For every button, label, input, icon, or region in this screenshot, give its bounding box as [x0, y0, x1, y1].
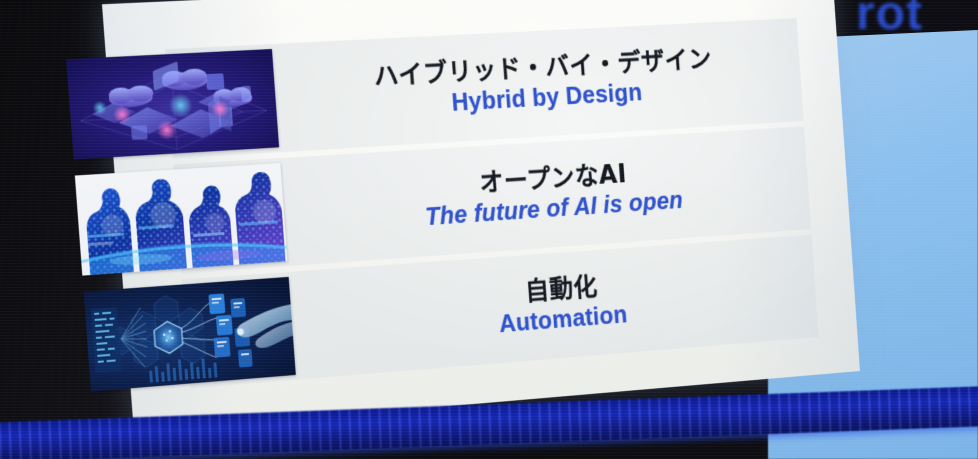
isometric-hybrid-cloud-illustration [66, 49, 279, 160]
hand-touching-network-nodes [84, 277, 296, 392]
hybrid-cloud-art-svg [66, 49, 279, 160]
presentation-slide: ハイブリッド・バイ・デザイン Hybrid by Design [102, 0, 860, 433]
photo-scene: rot [0, 0, 978, 459]
automation-art-svg [84, 277, 296, 392]
slide-rows: ハイブリッド・バイ・デザイン Hybrid by Design [102, 0, 860, 433]
slide-container: ハイブリッド・バイ・デザイン Hybrid by Design [0, 0, 978, 459]
people-silhouette-art-svg [75, 163, 288, 276]
people-silhouettes-data-texture [75, 163, 288, 276]
